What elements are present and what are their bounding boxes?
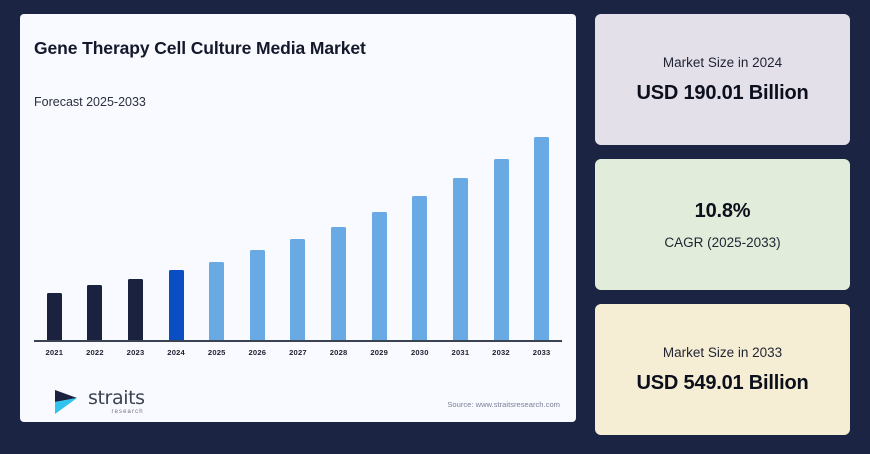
x-axis-label-2021: 2021 xyxy=(34,348,75,357)
stat-card-value: USD 549.01 Billion xyxy=(636,372,808,395)
bar-slot xyxy=(440,118,481,340)
logo-text: straits research xyxy=(88,389,145,415)
x-axis-tick-labels: 2021202220232024202520262027202820292030… xyxy=(34,348,562,357)
bar-2024 xyxy=(169,270,184,340)
bar-2032 xyxy=(494,159,509,340)
stat-card-market-size-2024: Market Size in 2024 USD 190.01 Billion xyxy=(595,14,850,145)
x-axis-line xyxy=(34,340,562,342)
bar-chart-plot-area xyxy=(34,118,562,340)
bar-2025 xyxy=(209,262,224,340)
logo-subword: research xyxy=(111,409,143,415)
x-axis-label-2025: 2025 xyxy=(196,348,237,357)
bar-2030 xyxy=(412,196,427,340)
chart-subtitle: Forecast 2025-2033 xyxy=(34,95,146,109)
bar-2027 xyxy=(290,239,305,340)
x-axis-label-2029: 2029 xyxy=(359,348,400,357)
infographic-root: Gene Therapy Cell Culture Media Market F… xyxy=(0,0,870,454)
stat-cards: Market Size in 2024 USD 190.01 Billion 1… xyxy=(595,14,850,422)
bar-slot xyxy=(481,118,522,340)
bar-series xyxy=(34,118,562,340)
bar-2022 xyxy=(87,285,102,340)
stat-card-label: CAGR (2025-2033) xyxy=(664,235,780,250)
x-axis-label-2032: 2032 xyxy=(481,348,522,357)
x-axis-label-2022: 2022 xyxy=(75,348,116,357)
bar-slot xyxy=(75,118,116,340)
bar-slot xyxy=(237,118,278,340)
bar-slot xyxy=(318,118,359,340)
x-axis-label-2026: 2026 xyxy=(237,348,278,357)
logo-word: straits xyxy=(88,389,145,408)
bar-2031 xyxy=(453,178,468,340)
x-axis-label-2024: 2024 xyxy=(156,348,197,357)
logo-arrow-icon xyxy=(54,389,84,415)
stat-card-label: Market Size in 2033 xyxy=(663,345,782,360)
bar-slot xyxy=(34,118,75,340)
bar-slot xyxy=(115,118,156,340)
x-axis-label-2023: 2023 xyxy=(115,348,156,357)
stat-card-value: USD 190.01 Billion xyxy=(636,82,808,105)
bar-slot xyxy=(399,118,440,340)
bar-2023 xyxy=(128,279,143,340)
chart-panel: Gene Therapy Cell Culture Media Market F… xyxy=(20,14,576,422)
bar-2029 xyxy=(372,212,387,340)
stat-card-label: Market Size in 2024 xyxy=(663,55,782,70)
bar-slot xyxy=(359,118,400,340)
bar-2026 xyxy=(250,250,265,340)
stat-card-market-size-2033: Market Size in 2033 USD 549.01 Billion xyxy=(595,304,850,435)
source-attribution: Source: www.straitsresearch.com xyxy=(447,400,560,409)
bar-2033 xyxy=(534,137,549,340)
straits-research-logo: straits research xyxy=(54,389,145,415)
stat-card-value: 10.8% xyxy=(695,200,751,223)
bar-2028 xyxy=(331,227,346,340)
page-title: Gene Therapy Cell Culture Media Market xyxy=(34,38,366,59)
x-axis-label-2027: 2027 xyxy=(278,348,319,357)
stat-card-cagr: 10.8% CAGR (2025-2033) xyxy=(595,159,850,290)
x-axis-label-2028: 2028 xyxy=(318,348,359,357)
bar-2021 xyxy=(47,293,62,340)
bar-slot xyxy=(156,118,197,340)
x-axis-label-2030: 2030 xyxy=(399,348,440,357)
x-axis-label-2031: 2031 xyxy=(440,348,481,357)
x-axis-label-2033: 2033 xyxy=(521,348,562,357)
bar-slot xyxy=(521,118,562,340)
bar-slot xyxy=(278,118,319,340)
bar-slot xyxy=(196,118,237,340)
